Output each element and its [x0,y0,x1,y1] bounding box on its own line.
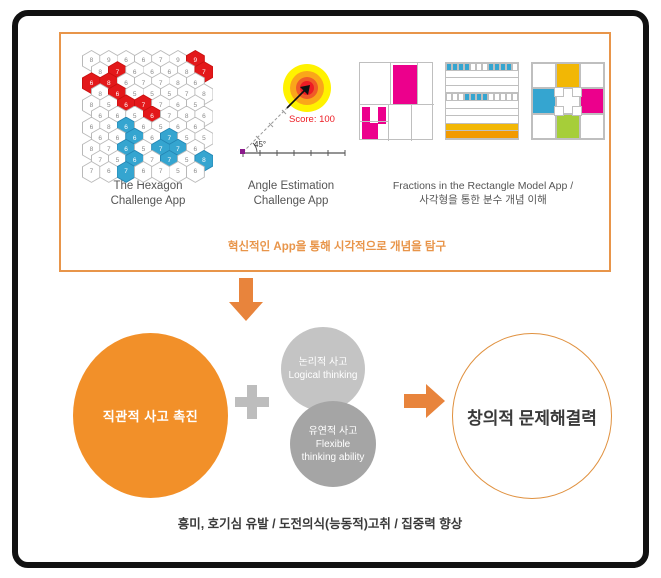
apps-panel: 8966799876668768677868655578856776566567… [59,32,611,272]
logical-thinking-label-ko: 논리적 사고 [289,356,358,369]
fraction-center-notch [554,106,564,116]
fraction-grid-cell [556,114,580,139]
creative-problem-solving-circle: 창의적 문제해결력 [452,333,612,499]
plus-icon [235,385,269,419]
app-card-fractions[interactable]: Fractions in the Rectangle Model App / 사… [357,48,609,207]
app-caption-fractions-line1: Fractions in the Rectangle Model App / [357,179,609,193]
hexagon-grid[interactable]: 8966799876668768677868655578856776566567… [82,50,214,174]
app-caption-fractions-line2: 사각형을 통한 분수 개념 이해 [357,193,609,207]
hexagon-cell-value: 7 [83,162,100,182]
app-caption-hexagon: The Hexagon Challenge App [69,179,227,209]
flexible-thinking-label-en2: thinking ability [302,451,365,464]
fraction-grid-line [390,63,391,104]
hexagon-cell-value: 6 [187,162,204,182]
fraction-grid-cell [532,114,556,139]
app-caption-hexagon-line2: Challenge App [69,194,227,209]
fraction-strip-row [446,131,518,139]
right-arrow-icon [404,383,446,419]
fraction-strip-row [446,63,518,71]
fraction-strip-cell [512,93,518,101]
fraction-grid-line [411,104,412,141]
fraction-grid-cell [556,63,580,88]
fraction-strip-row [446,93,518,101]
app-caption-angle-line1: Angle Estimation [227,179,355,194]
hexagon-app-art: 8966799876668768677868655578856776566567… [69,48,227,176]
fraction-models-group [357,54,609,166]
fraction-strip-row [446,124,518,132]
flexible-thinking-label-en1: Flexible [302,438,365,451]
fraction-center-notch [554,87,564,97]
fraction-grid-line [360,104,434,105]
intuitive-thinking-circle: 직관적 사고 촉진 [73,333,228,498]
fraction-strip-row [446,109,518,117]
angle-arrow-overlay [227,52,355,174]
hexagon-cell-value: 6 [135,162,152,182]
fraction-shaded-region [370,123,378,139]
fraction-center-notch [572,106,582,116]
fraction-grid-cell [580,114,604,139]
footer-benefits-text: 흥미, 호기심 유발 / 도전의식(능동적)고취 / 집중력 향상 [20,513,620,532]
app-card-hexagon[interactable]: 8966799876668768677868655578856776566567… [69,48,227,209]
angle-score-label: Score: 100 [289,114,335,125]
fraction-strip-row [446,78,518,86]
fraction-grid-cell [580,63,604,88]
fraction-grid-cell [532,88,556,113]
fraction-grid-line [417,63,418,104]
hexagon-cell-value: 7 [152,162,169,182]
fraction-strip-row [446,116,518,124]
fraction-model-area-partition[interactable] [359,62,433,140]
fraction-center-notch [572,87,582,97]
flexible-thinking-circle: 유연적 사고 Flexible thinking ability [290,401,376,487]
fraction-strip-row [446,101,518,109]
flexible-thinking-label-ko: 유연적 사고 [302,425,365,438]
fraction-grid-cell [532,63,556,88]
apps-row: 8966799876668768677868655578856776566567… [61,48,613,228]
slide-canvas: 8966799876668768677868655578856776566567… [0,0,661,578]
creative-problem-solving-label: 창의적 문제해결력 [467,404,597,429]
logical-thinking-circle: 논리적 사고 Logical thinking [281,327,365,411]
app-card-angle-estimation[interactable]: Score: 100 45° Angle Estimation Challeng… [227,48,355,209]
fraction-grid-line [360,121,388,122]
intuitive-thinking-label: 직관적 사고 촉진 [103,406,198,425]
hexagon-cell-value: 6 [100,162,117,182]
fraction-shaded-region [362,107,370,139]
app-caption-fractions: Fractions in the Rectangle Model App / 사… [357,179,609,207]
fraction-shaded-region [393,65,417,105]
fraction-model-horizontal-strips[interactable] [445,62,519,140]
fraction-strip-row [446,71,518,79]
angle-degree-label: 45° [254,140,266,149]
hexagon-cell-value: 5 [169,162,186,182]
fraction-grid-cell [580,88,604,113]
fraction-model-cross-grid[interactable] [531,62,605,140]
fraction-strip-cell [512,63,518,71]
fractions-app-art [357,48,609,176]
explore-concept-text: 혁신적인 App을 통해 시각적으로 개념을 탐구 [61,238,613,254]
hexagon-cell-value: 7 [117,162,134,182]
angle-target-diagram: Score: 100 45° [227,52,355,174]
down-arrow-icon [226,278,266,322]
fraction-grid-line [388,104,389,141]
logical-thinking-label-en: Logical thinking [289,369,358,382]
angle-app-art: Score: 100 45° [227,48,355,176]
app-caption-angle: Angle Estimation Challenge App [227,179,355,209]
fraction-strip-row [446,86,518,94]
app-caption-angle-line2: Challenge App [227,194,355,209]
